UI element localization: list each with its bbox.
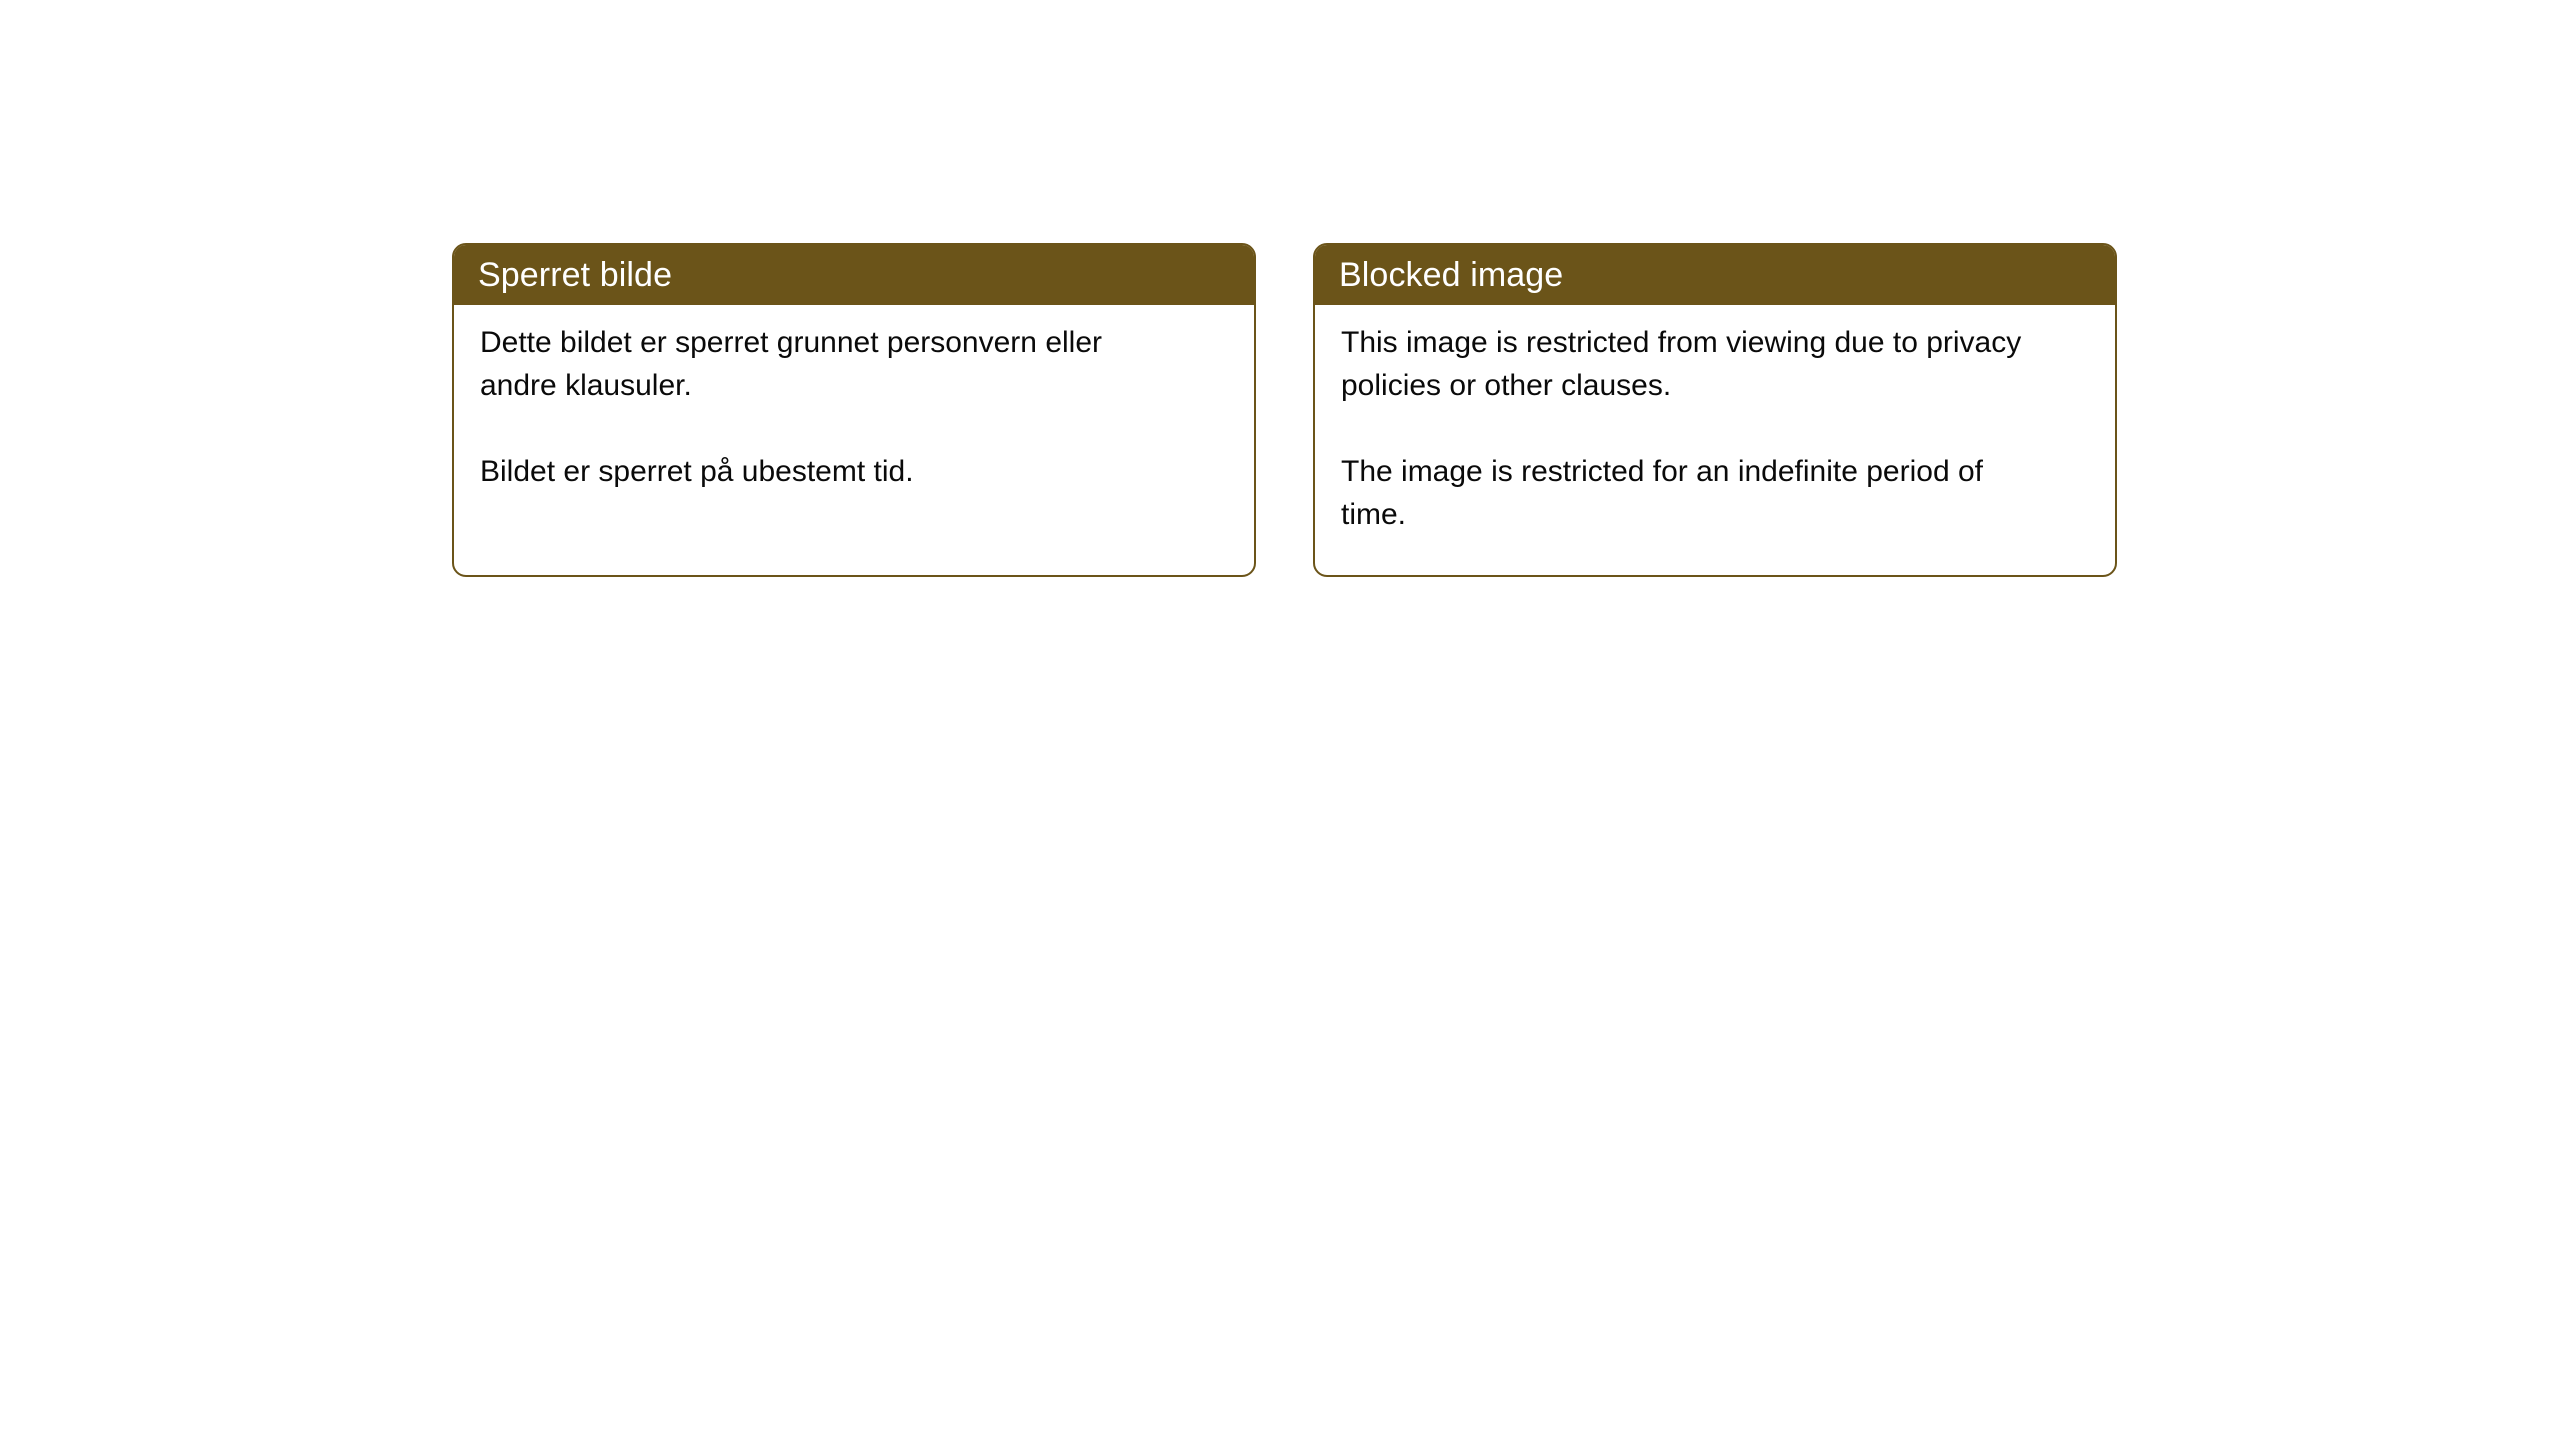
card-paragraph-primary-norwegian: Dette bildet er sperret grunnet personve… <box>480 321 1180 407</box>
card-body-english: This image is restricted from viewing du… <box>1315 305 2115 536</box>
card-paragraph-secondary-norwegian: Bildet er sperret på ubestemt tid. <box>480 450 1180 493</box>
blocked-image-card-english: Blocked image This image is restricted f… <box>1313 243 2117 577</box>
card-title-norwegian: Sperret bilde <box>478 256 672 294</box>
card-paragraph-secondary-english: The image is restricted for an indefinit… <box>1341 450 2041 536</box>
card-title-english: Blocked image <box>1339 256 1563 294</box>
blocked-image-notice-area: Sperret bilde Dette bildet er sperret gr… <box>0 0 2560 1440</box>
card-body-norwegian: Dette bildet er sperret grunnet personve… <box>454 305 1254 493</box>
card-paragraph-primary-english: This image is restricted from viewing du… <box>1341 321 2041 407</box>
blocked-image-card-norwegian: Sperret bilde Dette bildet er sperret gr… <box>452 243 1256 577</box>
card-header-norwegian: Sperret bilde <box>454 245 1254 305</box>
card-header-english: Blocked image <box>1315 245 2115 305</box>
